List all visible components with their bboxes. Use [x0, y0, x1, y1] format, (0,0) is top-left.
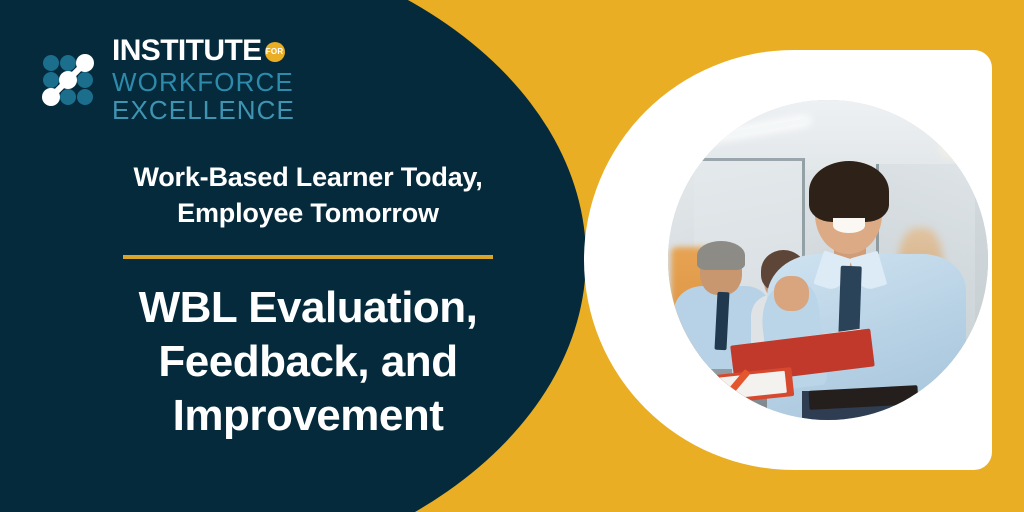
logo-line-institute-row: INSTITUTE FOR: [112, 36, 295, 66]
logo-wordmark: INSTITUTE FOR WORKFORCE EXCELLENCE: [112, 36, 295, 123]
ceiling-spotlight: [946, 142, 956, 152]
eyebrow-line-2: Employee Tomorrow: [52, 196, 564, 232]
subject-smile: [833, 218, 865, 232]
network-dots-icon: [36, 48, 100, 112]
logo-text-excellence: EXCELLENCE: [112, 97, 295, 123]
hero-photo-image: [668, 100, 988, 420]
brand-logo: INSTITUTE FOR WORKFORCE EXCELLENCE: [36, 36, 295, 123]
headline-line-1: WBL Evaluation,: [52, 281, 564, 335]
logo-text-workforce: WORKFORCE: [112, 69, 295, 95]
slide-text-block: Work-Based Learner Today, Employee Tomor…: [52, 160, 564, 444]
eyebrow-line-1: Work-Based Learner Today,: [52, 160, 564, 196]
subject-hair: [809, 161, 889, 222]
page-title: WBL Evaluation, Feedback, and Improvemen…: [52, 281, 564, 443]
logo-badge-for: FOR: [265, 42, 285, 62]
headline-line-3: Improvement: [52, 389, 564, 443]
eyebrow-heading: Work-Based Learner Today, Employee Tomor…: [52, 160, 564, 231]
subject-hand: [774, 276, 809, 311]
logo-text-institute: INSTITUTE: [112, 36, 262, 66]
colleague-left-hair: [697, 241, 745, 270]
headline-line-2: Feedback, and: [52, 335, 564, 389]
gold-divider: [123, 255, 493, 259]
hero-photo: [668, 100, 988, 420]
slide-canvas: INSTITUTE FOR WORKFORCE EXCELLENCE Work-…: [0, 0, 1024, 512]
